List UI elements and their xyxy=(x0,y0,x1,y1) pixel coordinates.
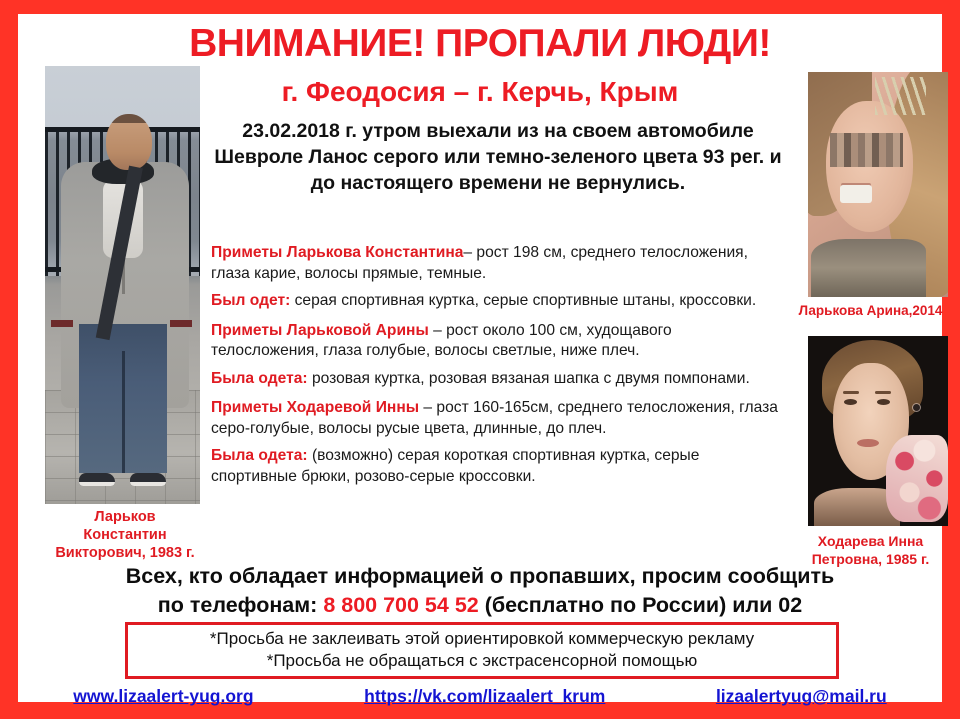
photo-konstantin-larkov xyxy=(45,66,200,504)
scarf-shape xyxy=(811,239,926,298)
sleeve-stripe-right xyxy=(170,320,192,327)
description-inna-clothing: Была одета: (возможно) серая короткая сп… xyxy=(211,446,781,487)
jeans-shape xyxy=(79,324,167,473)
page-title: ВНИМАНИЕ! ПРОПАЛИ ЛЮДИ! xyxy=(18,22,942,66)
mouth-shape xyxy=(840,185,872,203)
cta-phone-suffix: (бесплатно по России) или 02 xyxy=(479,593,802,617)
eye-left xyxy=(844,399,857,405)
poster-sheet: ВНИМАНИЕ! ПРОПАЛИ ЛЮДИ! г. Феодосия – г.… xyxy=(18,14,942,702)
cta-phone-prefix: по телефонам: xyxy=(158,593,324,617)
description-arina-features: Приметы Ларьковой Арины – рост около 100… xyxy=(211,321,781,362)
description-label: Была одета: xyxy=(211,447,308,464)
pixelated-eyes-redaction xyxy=(830,133,903,167)
face-shape xyxy=(826,101,913,232)
caption-line-1: Ларьков xyxy=(30,508,220,526)
lips-shape xyxy=(857,439,879,447)
description-inna-features: Приметы Ходаревой Инны – рост 160-165см,… xyxy=(211,398,781,439)
cta-line-2: по телефонам: 8 800 700 54 52 (бесплатно… xyxy=(18,591,942,620)
eyebrow-left xyxy=(843,391,859,394)
description-text: розовая куртка, розовая вязаная шапка с … xyxy=(308,370,750,387)
description-label: Приметы Ларьковой Арины xyxy=(211,322,429,339)
hotline-phone-number: 8 800 700 54 52 xyxy=(323,593,478,617)
email-link[interactable]: lizaalertyug@mail.ru xyxy=(716,686,887,707)
description-label: Была одета: xyxy=(211,370,308,387)
tiara-icon xyxy=(875,77,925,115)
caption-line-2: Константин xyxy=(30,526,220,544)
eyebrow-right xyxy=(875,391,891,394)
description-arina-clothing: Была одета: розовая куртка, розовая вяза… xyxy=(211,369,781,390)
caption-line-1: Ходарева Инна xyxy=(778,532,960,550)
shoe-right xyxy=(130,473,166,486)
eye-right xyxy=(877,399,890,405)
caption-konstantin-larkov: Ларьков Константин Викторович, 1983 г. xyxy=(30,508,220,562)
incident-summary: 23.02.2018 г. утром выехали из на своем … xyxy=(200,118,796,196)
call-to-action: Всех, кто обладает информацией о пропавш… xyxy=(18,562,942,620)
description-label: Был одет: xyxy=(211,292,290,309)
descriptions-column: Приметы Ларькова Константина– рост 198 с… xyxy=(211,243,781,496)
description-label: Приметы Ларькова Константина xyxy=(211,244,463,261)
caption-arina-larkova: Ларькова Арина,2014 xyxy=(778,302,960,320)
warning-line-1: *Просьба не заклеивать этой ориентировко… xyxy=(128,628,836,650)
head-shape xyxy=(106,114,152,170)
missing-persons-poster: ВНИМАНИЕ! ПРОПАЛИ ЛЮДИ! г. Феодосия – г.… xyxy=(0,0,960,719)
cta-line-1: Всех, кто обладает информацией о пропавш… xyxy=(18,562,942,591)
floral-pattern xyxy=(886,435,948,522)
website-link[interactable]: www.lizaalert-yug.org xyxy=(73,686,253,707)
warning-box: *Просьба не заклеивать этой ориентировко… xyxy=(125,622,839,679)
description-label: Приметы Ходаревой Инны xyxy=(211,399,419,416)
shoe-left xyxy=(79,473,115,486)
caption-line-3: Викторович, 1983 г. xyxy=(30,544,220,562)
warning-line-2: *Просьба не обращаться с экстрасенсорной… xyxy=(128,650,836,672)
vk-link[interactable]: https://vk.com/lizaalert_krum xyxy=(364,686,605,707)
photo-arina-larkova xyxy=(808,72,948,297)
photo-inna-khodareva xyxy=(808,336,948,526)
description-konstantin-features: Приметы Ларькова Константина– рост 198 с… xyxy=(211,243,781,284)
sleeve-stripe-left xyxy=(51,320,73,327)
description-text: серая спортивная куртка, серые спортивны… xyxy=(290,292,756,309)
description-konstantin-clothing: Был одет: серая спортивная куртка, серые… xyxy=(211,291,781,312)
footer-links: www.lizaalert-yug.org https://vk.com/liz… xyxy=(18,686,942,707)
